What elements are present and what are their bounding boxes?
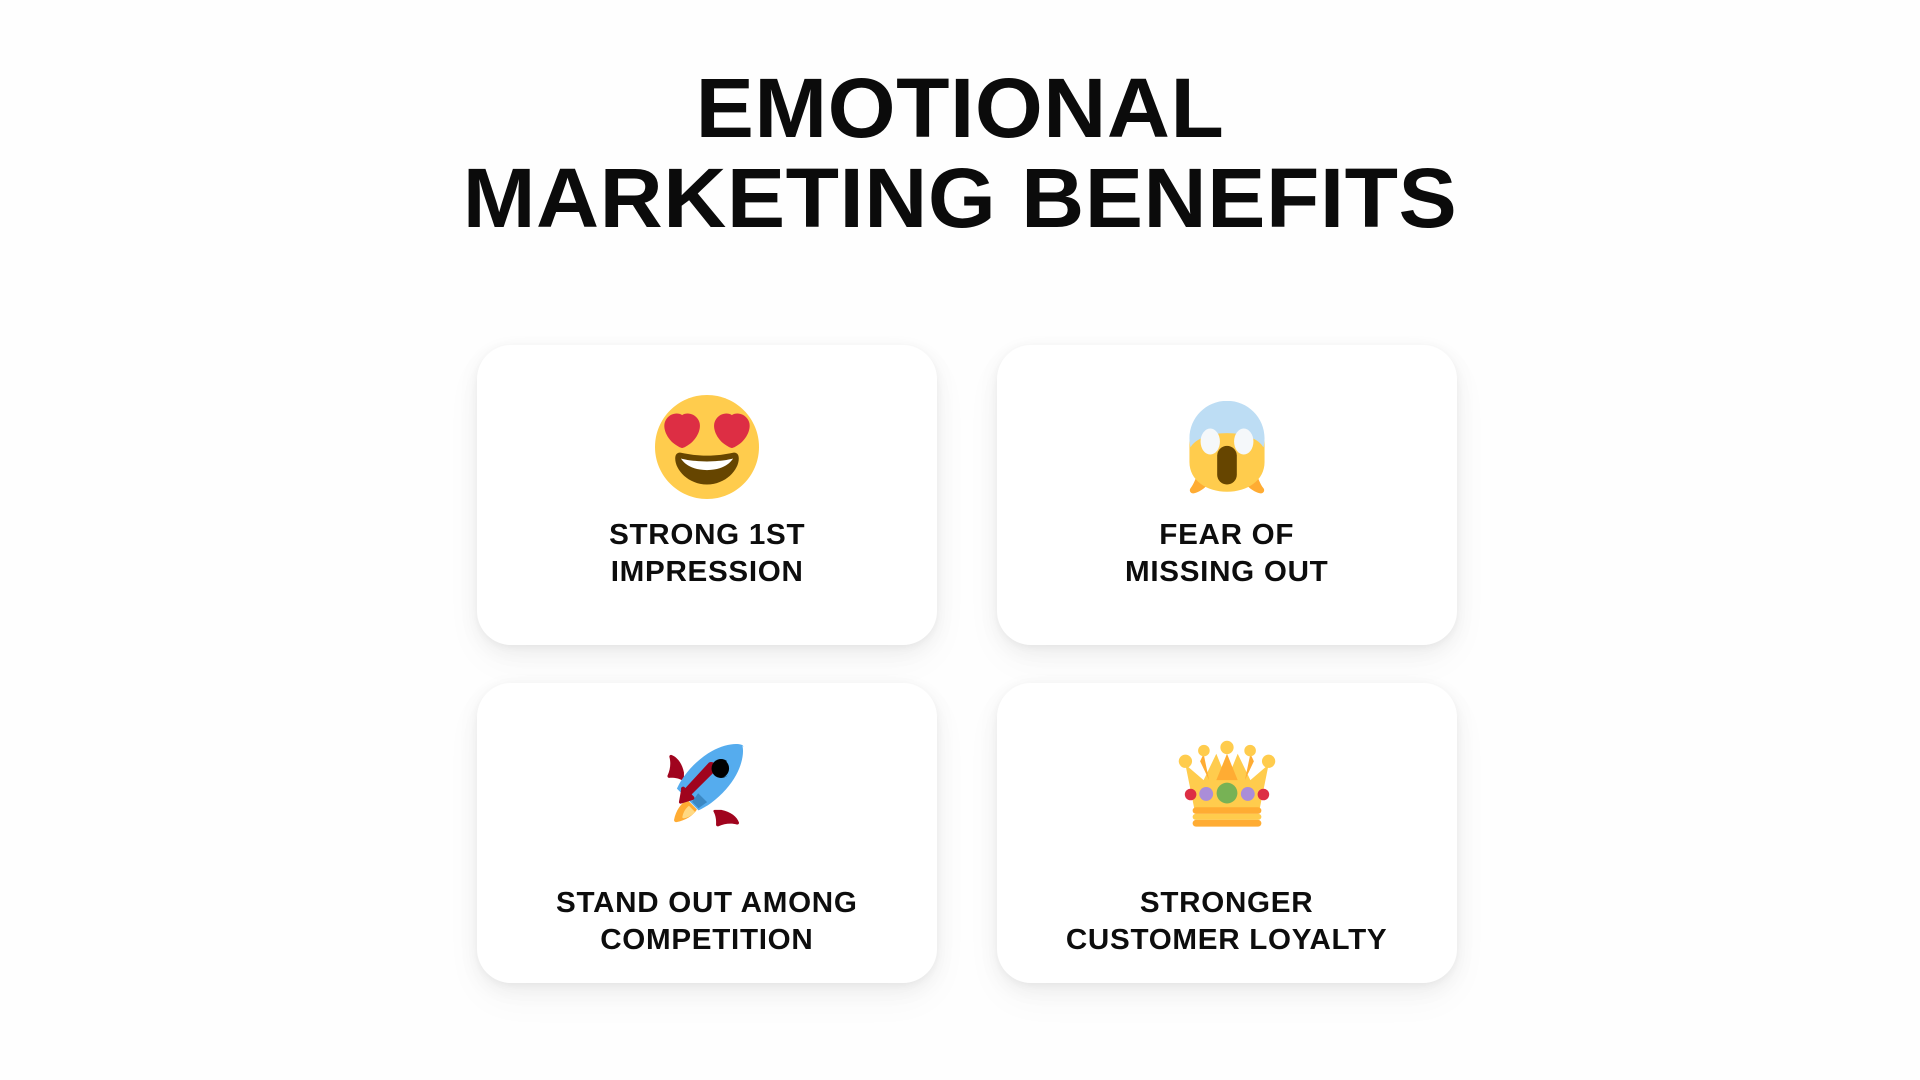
smiling-face-with-heart-eyes-icon bbox=[655, 395, 759, 499]
benefit-card-label: STRONGER CUSTOMER LOYALTY bbox=[1066, 885, 1388, 959]
benefit-card-label: STRONG 1ST IMPRESSION bbox=[609, 517, 805, 591]
page-title-line-2: MARKETING BENEFITS bbox=[0, 156, 1920, 242]
benefit-card-label: FEAR OF MISSING OUT bbox=[1125, 517, 1328, 591]
slide-canvas: EMOTIONAL MARKETING BENEFITS STRONG 1ST … bbox=[0, 0, 1920, 1080]
benefit-card-strong-first-impression[interactable]: STRONG 1ST IMPRESSION bbox=[477, 345, 937, 645]
benefit-card-fear-of-missing-out[interactable]: FEAR OF MISSING OUT bbox=[997, 345, 1457, 645]
benefit-card-stronger-customer-loyalty[interactable]: STRONGER CUSTOMER LOYALTY bbox=[997, 683, 1457, 983]
crown-icon bbox=[1175, 735, 1279, 839]
page-title-line-1: EMOTIONAL bbox=[0, 66, 1920, 152]
page-title: EMOTIONAL MARKETING BENEFITS bbox=[0, 66, 1920, 241]
face-screaming-in-fear-icon bbox=[1175, 395, 1279, 499]
rocket-icon bbox=[655, 735, 759, 839]
benefit-card-label: STAND OUT AMONG COMPETITION bbox=[556, 885, 858, 959]
benefit-card-stand-out-among-competition[interactable]: STAND OUT AMONG COMPETITION bbox=[477, 683, 937, 983]
benefits-card-grid: STRONG 1ST IMPRESSION FEAR OF MISSING OU… bbox=[477, 345, 1457, 983]
